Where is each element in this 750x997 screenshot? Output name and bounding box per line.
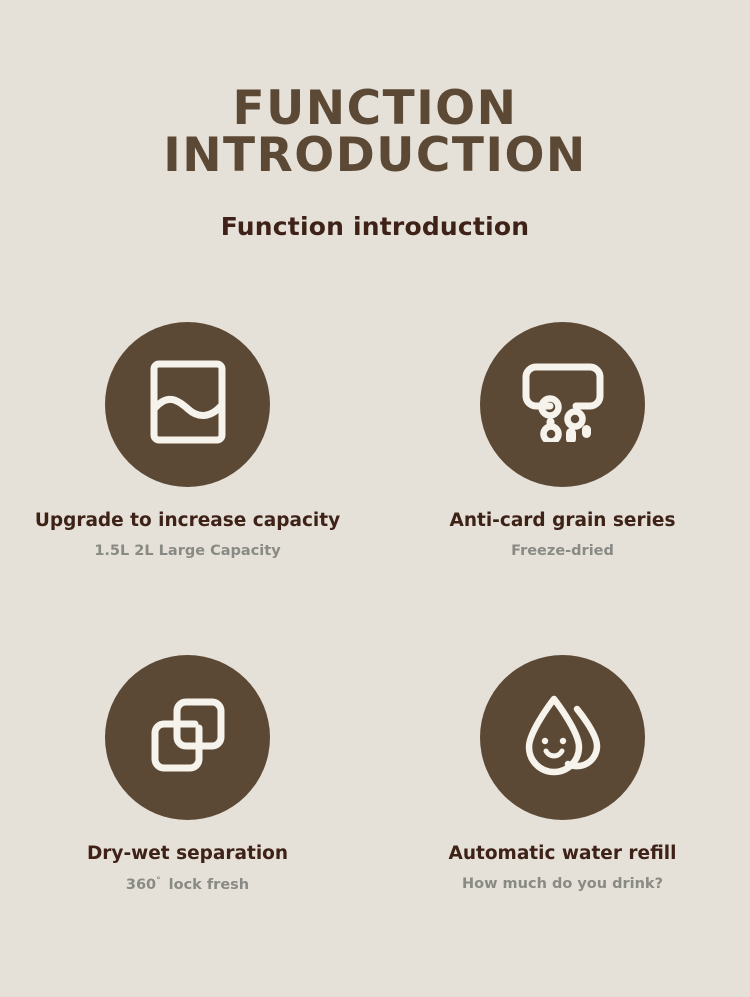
feature-icon-circle: [480, 655, 645, 820]
feature-icon-circle: [105, 655, 270, 820]
page-subtitle: Function introduction: [0, 212, 750, 241]
feature-item-anti-card-grain: Anti-card grain series Freeze-dried: [375, 322, 750, 559]
feature-subtitle-rest: lock fresh: [169, 877, 249, 893]
function-introduction-page: FUNCTION INTRODUCTION Function introduct…: [0, 0, 750, 997]
page-title: FUNCTION INTRODUCTION: [0, 86, 750, 179]
cup-water-level-icon: [149, 359, 227, 450]
feature-row-2: Dry-wet separation 360°lock fresh: [0, 655, 750, 893]
feature-item-upgrade-capacity: Upgrade to increase capacity 1.5L 2L Lar…: [0, 322, 375, 559]
feature-subtitle: How much do you drink?: [462, 876, 663, 892]
grain-dispenser-icon: [520, 362, 606, 447]
page-title-line-2: INTRODUCTION: [0, 133, 750, 180]
page-header: FUNCTION INTRODUCTION Function introduct…: [0, 0, 750, 241]
feature-title: Dry-wet separation: [87, 843, 288, 864]
feature-icon-circle: [105, 322, 270, 487]
feature-title: Anti-card grain series: [450, 510, 676, 531]
feature-subtitle: Freeze-dried: [511, 543, 614, 559]
degree-symbol: °: [156, 876, 169, 886]
feature-subtitle: 360°lock fresh: [126, 876, 249, 893]
overlapping-squares-icon: [150, 697, 226, 778]
feature-grid: Upgrade to increase capacity 1.5L 2L Lar…: [0, 322, 750, 893]
feature-item-automatic-water-refill: Automatic water refill How much do you d…: [375, 655, 750, 893]
feature-subtitle-number: 360: [126, 877, 156, 893]
feature-subtitle: 1.5L 2L Large Capacity: [94, 543, 280, 559]
feature-title: Upgrade to increase capacity: [35, 510, 340, 531]
feature-title: Automatic water refill: [449, 843, 677, 864]
smiling-water-drops-icon: [521, 693, 605, 782]
feature-icon-circle: [480, 322, 645, 487]
feature-row-1: Upgrade to increase capacity 1.5L 2L Lar…: [0, 322, 750, 559]
page-title-line-1: FUNCTION: [0, 86, 750, 133]
feature-item-dry-wet-separation: Dry-wet separation 360°lock fresh: [0, 655, 375, 893]
